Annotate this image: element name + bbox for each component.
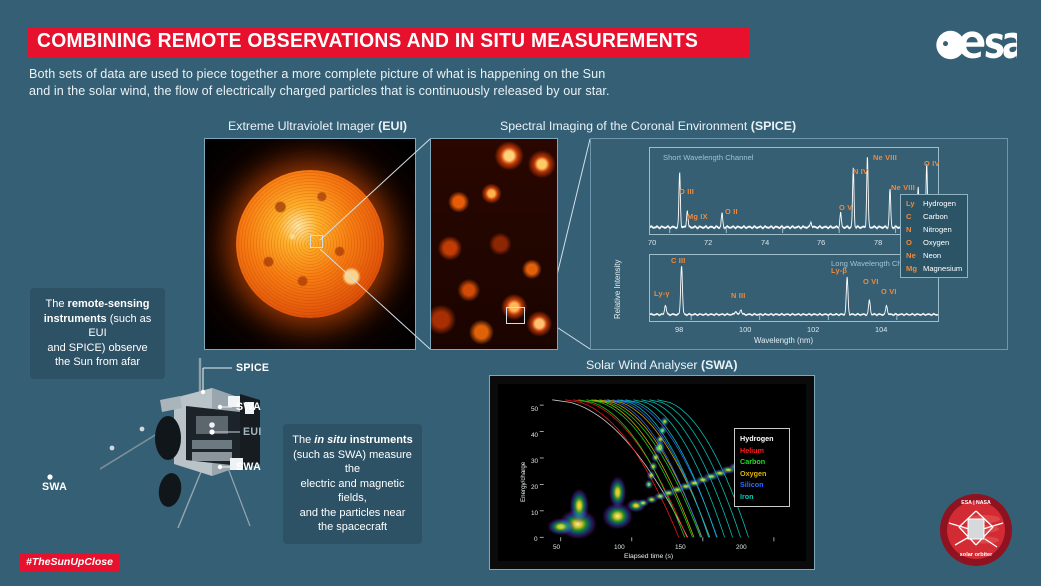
callout-line: instruments (such as EUI: [38, 312, 157, 341]
hashtag-badge: #TheSunUpClose: [20, 554, 119, 571]
swa-x-axis-label: Elapsed time (s): [624, 553, 673, 560]
element-name: Nitrogen: [923, 225, 952, 234]
ion-label-o3: O III: [679, 187, 694, 196]
subtitle-line-2: and in the solar wind, the flow of elect…: [29, 83, 610, 100]
patch-bottom-text: solar orbiter: [960, 552, 993, 558]
swa-legend-silicon: Silicon: [740, 479, 784, 491]
eui-zoom-region-box: [506, 307, 525, 324]
callout-line: The remote-sensing: [38, 297, 157, 312]
spacecraft-label-swa-boom: SWA: [42, 481, 67, 493]
spacecraft-label-spice: SPICE: [236, 362, 269, 374]
swa-legend-iron: Iron: [740, 491, 784, 503]
spice-long-xtick-102: 102: [807, 325, 819, 334]
ion-label-ly-gamma: Ly-γ: [654, 289, 670, 298]
swa-xtick-200: 200: [736, 544, 747, 551]
swa-spectrogram-panel: Energy/charge 50 40 30 20 10 0 50 100 15…: [489, 375, 815, 570]
solar-orbiter-spacecraft-illustration: [100, 350, 290, 530]
swa-legend-carbon: Carbon: [740, 456, 784, 468]
eui-caption: Extreme Ultraviolet Imager (EUI): [228, 119, 407, 133]
swa-y-axis-label: Energy/charge: [520, 462, 527, 502]
page-subtitle: Both sets of data are used to piece toge…: [29, 66, 610, 99]
eui-zoom-image: [430, 138, 558, 350]
solar-orbiter-mission-patch: ESA | NASA solar orbiter: [939, 493, 1013, 567]
spice-caption-acronym: (SPICE): [751, 119, 796, 133]
ion-label-mg9: Mg IX: [687, 212, 708, 221]
legend-row: Ly Hydrogen: [906, 199, 963, 212]
ion-label-o4: O IV: [924, 159, 940, 168]
ion-label-o5: O V: [839, 203, 852, 212]
swa-xtick-50: 50: [553, 544, 560, 551]
element-name: Hydrogen: [923, 199, 956, 208]
patch-top-text: ESA | NASA: [961, 500, 991, 506]
swa-species-legend: Hydrogen Helium Carbon Oxygen Silicon Ir…: [734, 428, 790, 507]
element-symbol: Ly: [906, 199, 923, 208]
spacecraft-label-eui: EUI: [243, 426, 262, 438]
ion-label-c3: C III: [671, 256, 686, 265]
element-name: Neon: [923, 251, 941, 260]
ion-label-o2: O II: [725, 207, 738, 216]
spice-y-axis-label: Relative Intensity: [613, 260, 622, 319]
swa-xtick-150: 150: [675, 544, 686, 551]
swa-plot-area: Energy/charge 50 40 30 20 10 0 50 100 15…: [498, 384, 806, 561]
swa-xtick-100: 100: [614, 544, 625, 551]
ion-label-ly-beta: Ly-β: [831, 266, 847, 275]
eui-caption-acronym: (EUI): [378, 119, 407, 133]
ion-label-ne8-a: Ne VIII: [873, 153, 897, 162]
callout-line: The in situ instruments: [291, 433, 414, 448]
spice-short-channel-title: Short Wavelength Channel: [663, 153, 753, 162]
eui-region-of-interest-box: [310, 235, 323, 248]
element-symbol: C: [906, 212, 923, 221]
legend-row: C Carbon: [906, 212, 963, 225]
legend-row: N Nitrogen: [906, 225, 963, 238]
callout-line: and the particles near: [291, 506, 414, 521]
subtitle-line-1: Both sets of data are used to piece toge…: [29, 66, 610, 83]
eui-sun-image: [204, 138, 416, 350]
eui-zoom-texture: [431, 139, 557, 349]
ion-label-n4: N IV: [853, 167, 868, 176]
swa-ytick-10: 10: [531, 510, 538, 517]
swa-legend-helium: Helium: [740, 445, 784, 457]
element-symbol: Mg: [906, 264, 923, 273]
callout-in-situ: The in situ instruments (such as SWA) me…: [283, 424, 422, 544]
ion-label-o6-a: O VI: [863, 277, 879, 286]
swa-ytick-20: 20: [531, 484, 538, 491]
eui-caption-text: Extreme Ultraviolet Imager: [228, 119, 378, 133]
spice-long-xtick-100: 100: [739, 325, 751, 334]
swa-ytick-0: 0: [534, 536, 538, 543]
callout-line: the spacecraft: [291, 520, 414, 535]
swa-ytick-40: 40: [531, 432, 538, 439]
swa-caption-acronym: (SWA): [701, 358, 737, 372]
swa-ytick-50: 50: [531, 406, 538, 413]
spice-caption-text: Spectral Imaging of the Coronal Environm…: [500, 119, 751, 133]
spice-short-xtick-74: 74: [761, 238, 769, 247]
spacecraft-label-swa-top: SWA: [236, 401, 261, 413]
element-name: Oxygen: [923, 238, 949, 247]
esa-logo-icon: [933, 26, 1017, 64]
swa-caption: Solar Wind Analyser (SWA): [586, 358, 738, 372]
element-symbol: N: [906, 225, 923, 234]
page-title: COMBINING REMOTE OBSERVATIONS AND IN SIT…: [37, 31, 698, 52]
swa-caption-text: Solar Wind Analyser: [586, 358, 701, 372]
element-legend: Ly Hydrogen C Carbon N Nitrogen O Oxygen…: [900, 194, 968, 278]
legend-row: Ne Neon: [906, 251, 963, 264]
legend-row: O Oxygen: [906, 238, 963, 251]
element-name: Magnesium: [923, 264, 962, 273]
ion-label-ne8-b: Ne VIII: [891, 183, 915, 192]
spice-short-xtick-78: 78: [874, 238, 882, 247]
spice-long-xtick-104: 104: [875, 325, 887, 334]
element-symbol: O: [906, 238, 923, 247]
spice-caption: Spectral Imaging of the Coronal Environm…: [500, 119, 796, 133]
legend-row: Mg Magnesium: [906, 264, 963, 277]
spice-long-xtick-98: 98: [675, 325, 683, 334]
spice-x-axis-label: Wavelength (nm): [754, 336, 813, 345]
spacecraft-label-swa-bottom: SWA: [236, 461, 261, 473]
callout-line: (such as SWA) measure the: [291, 448, 414, 477]
callout-line: electric and magnetic fields,: [291, 477, 414, 506]
ion-label-n3: N III: [731, 291, 746, 300]
element-symbol: Ne: [906, 251, 923, 260]
infographic-root: COMBINING REMOTE OBSERVATIONS AND IN SIT…: [0, 0, 1041, 586]
swa-legend-oxygen: Oxygen: [740, 468, 784, 480]
element-name: Carbon: [923, 212, 948, 221]
spice-short-xtick-76: 76: [817, 238, 825, 247]
swa-legend-hydrogen: Hydrogen: [740, 433, 784, 445]
spice-short-xtick-70: 70: [648, 238, 656, 247]
page-title-banner: COMBINING REMOTE OBSERVATIONS AND IN SIT…: [28, 27, 749, 58]
swa-ytick-30: 30: [531, 458, 538, 465]
ion-label-o6-b: O VI: [881, 287, 897, 296]
spice-short-xtick-72: 72: [704, 238, 712, 247]
